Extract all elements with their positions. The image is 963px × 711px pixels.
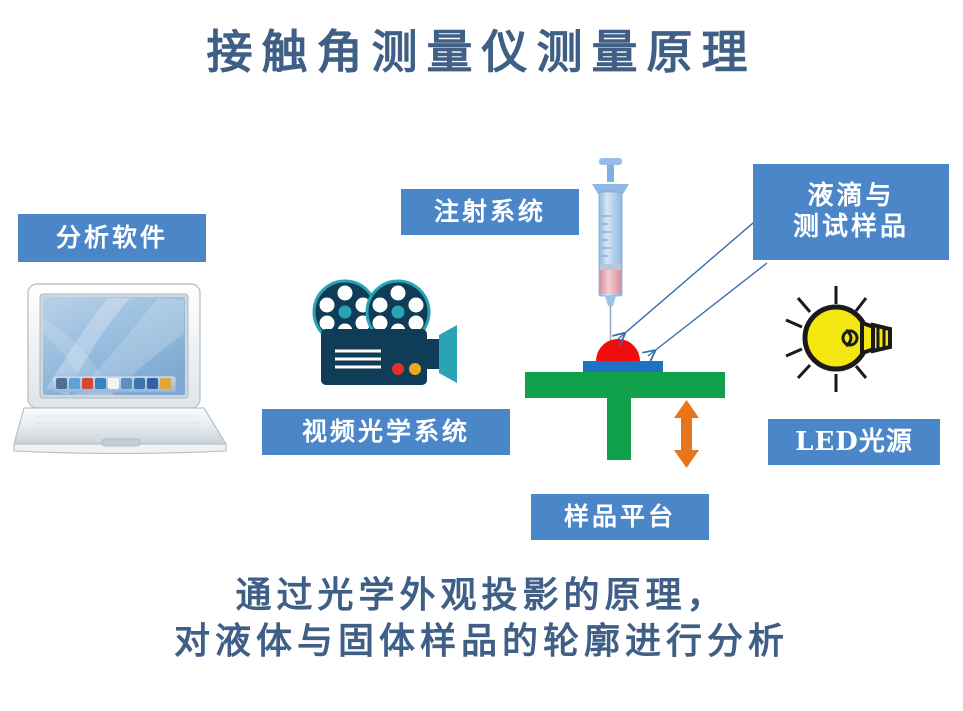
pointer-arrow-lines (595, 205, 770, 365)
label-analysis-software[interactable]: 分析软件 (18, 214, 206, 262)
laptop-icon (12, 278, 234, 456)
label-injection-system[interactable]: 注射系统 (401, 189, 579, 235)
label-video-optical-system[interactable]: 视频光学系统 (262, 409, 510, 455)
label-droplet-and-sample[interactable]: 液滴与 测试样品 (753, 164, 949, 260)
record-button (392, 363, 404, 375)
label-led-light-source[interactable]: LED光源 (768, 419, 940, 465)
stage-top (525, 372, 725, 398)
power-button (409, 363, 421, 375)
label-sample-stage[interactable]: 样品平台 (531, 494, 709, 540)
video-camera-illustration (305, 277, 483, 395)
laptop-illustration (12, 278, 234, 456)
slide-caption: 通过光学外观投影的原理， 对液体与固体样品的轮廓进行分析 (0, 572, 963, 664)
page-title: 接触角测量仪测量原理 (0, 16, 963, 82)
slide-canvas: 接触角测量仪测量原理 (0, 0, 963, 711)
stage-column (607, 398, 631, 460)
light-bulb-illustration (778, 278, 918, 398)
dock-icons (56, 378, 171, 389)
pointer-arrows (595, 205, 770, 365)
height-adjust-arrow (674, 400, 699, 468)
light-bulb-icon (778, 278, 918, 398)
video-camera-icon (305, 277, 483, 395)
